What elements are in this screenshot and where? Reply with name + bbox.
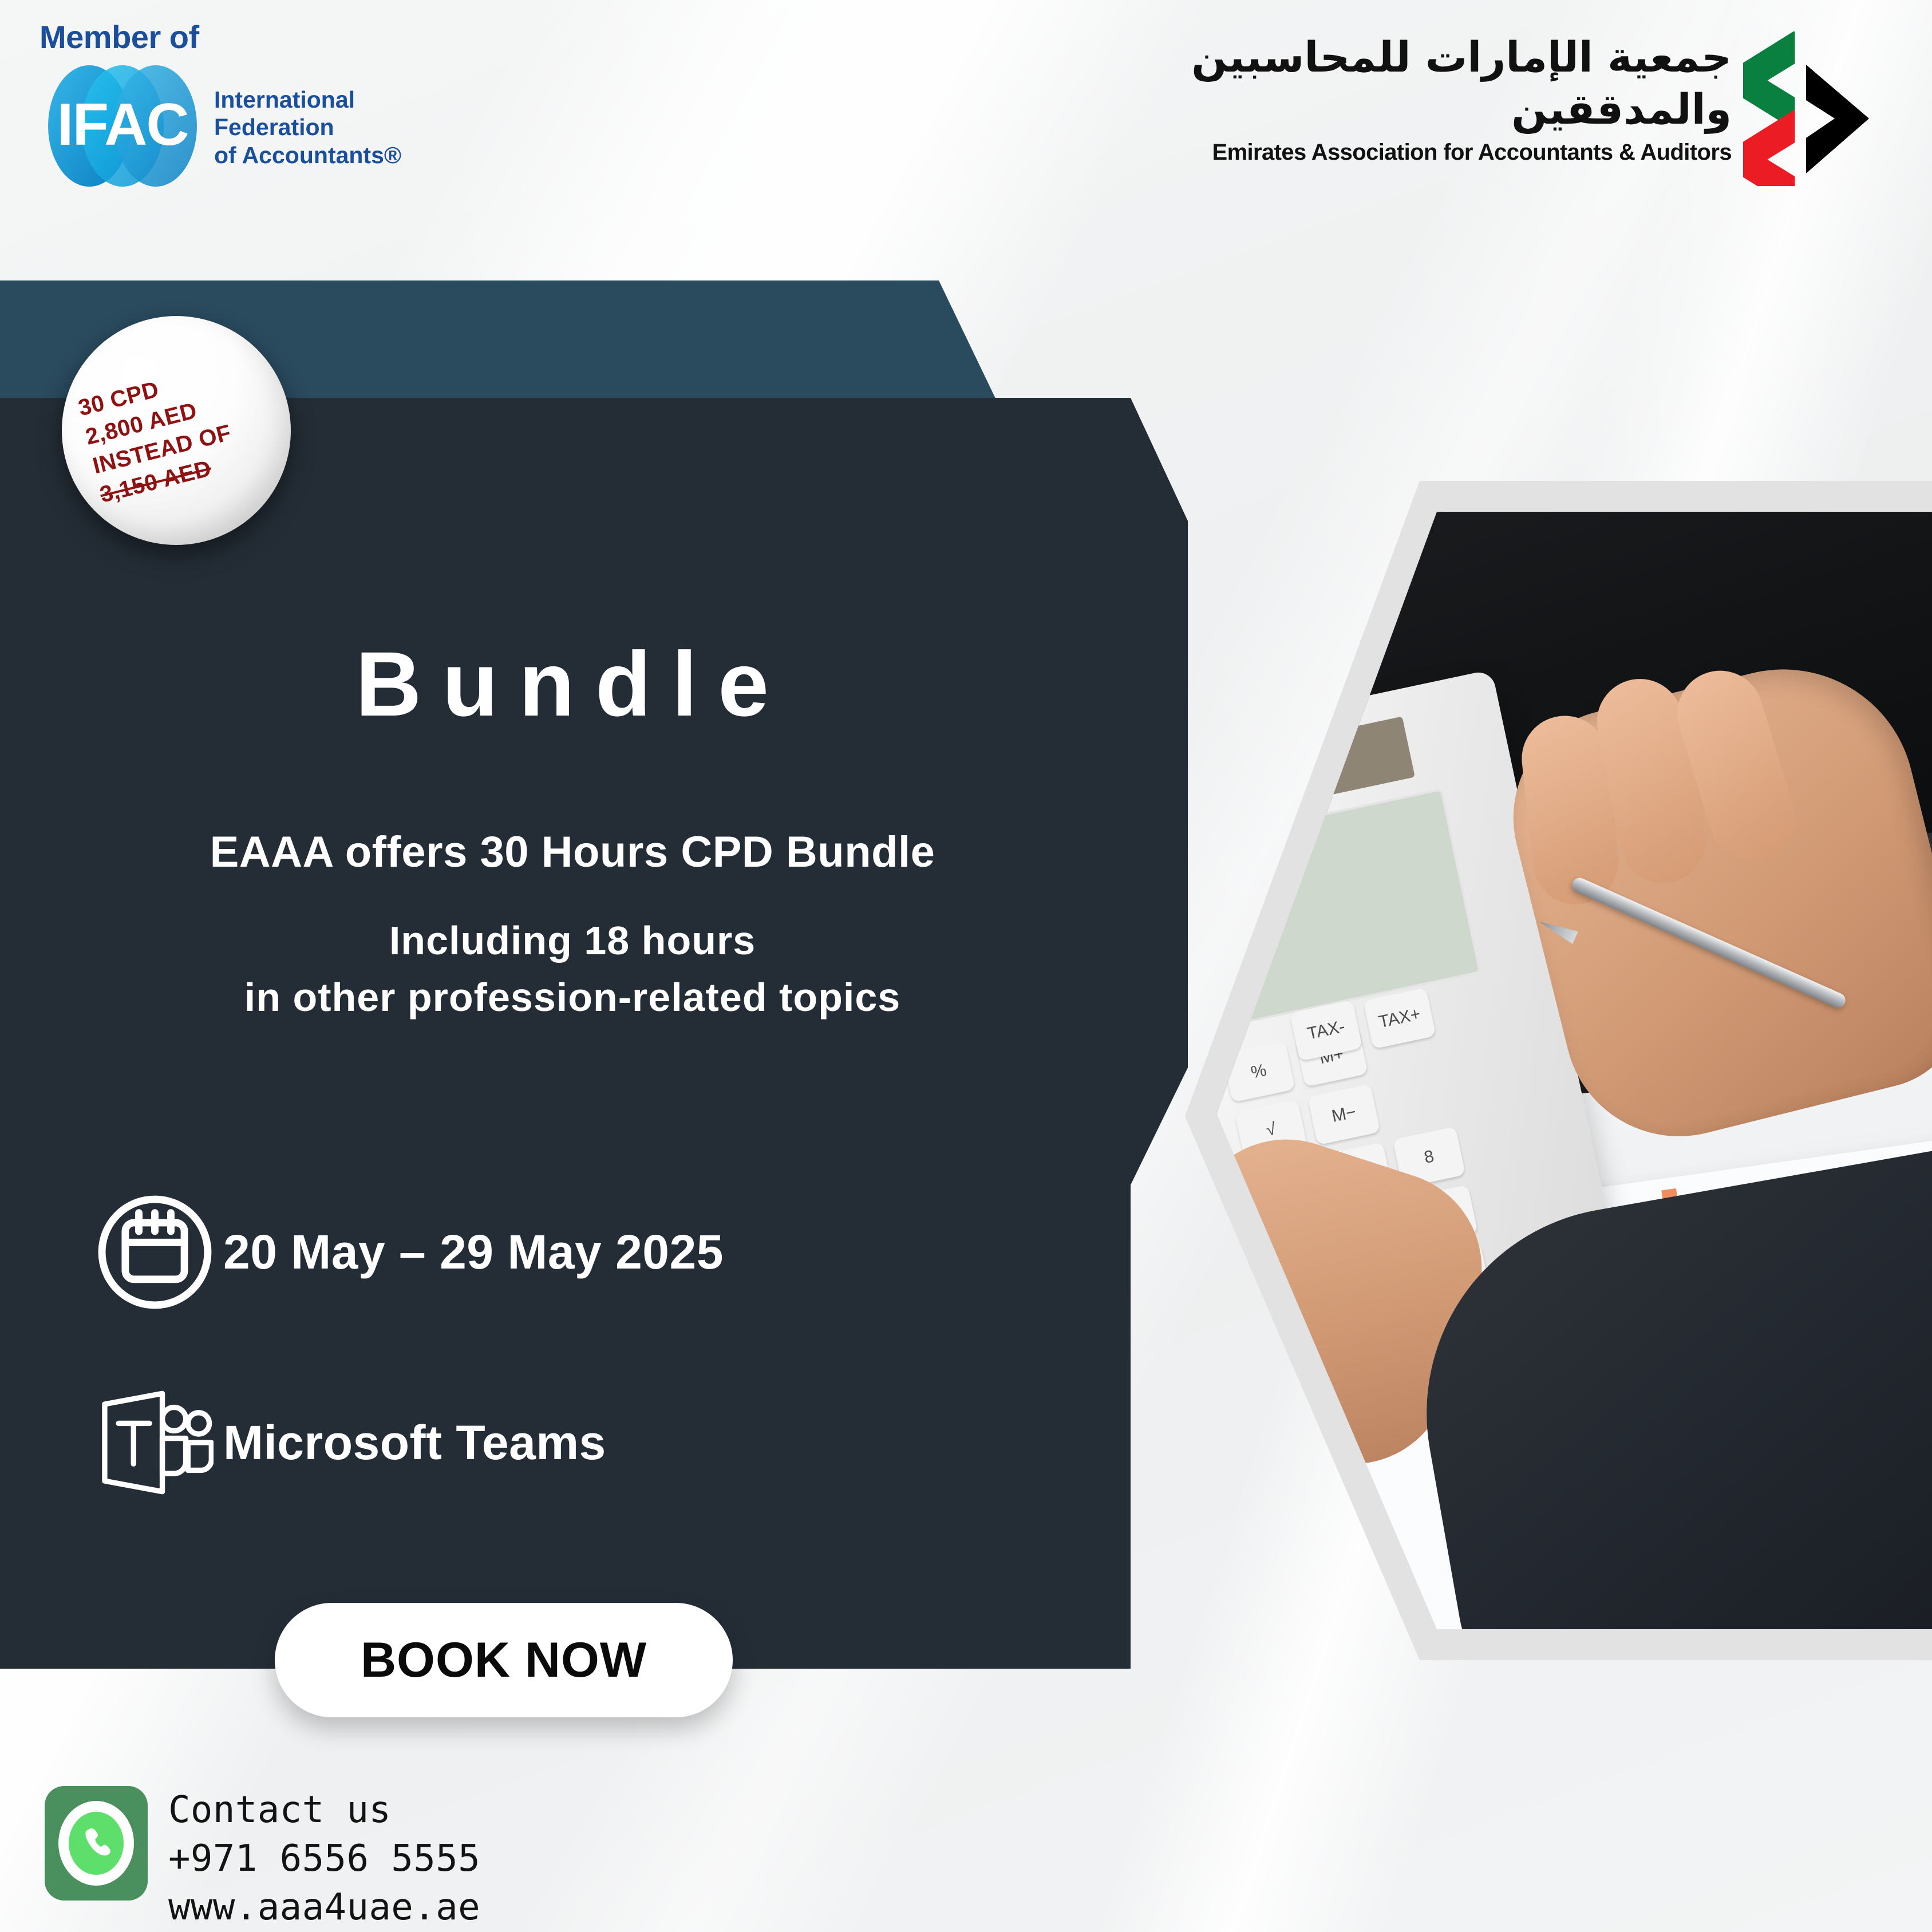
ifac-fullname-line2: Federation xyxy=(214,113,401,141)
ifac-fullname: International Federation of Accountants® xyxy=(214,86,401,169)
contact-phone[interactable]: +971 6556 5555 xyxy=(168,1835,480,1883)
offer-headline: EAAA offers 30 Hours CPD Bundle xyxy=(0,827,1145,877)
photo-scene: % M+ TAX+ TAX- √ M− MRC 7 8 4 5 0 . xyxy=(1216,512,1932,1629)
ifac-fullname-line3: of Accountants® xyxy=(214,141,401,169)
whatsapp-icon-ring xyxy=(58,1801,134,1886)
eaaa-wordmark: جمعية الإمارات للمحاسبين والمدققين Emira… xyxy=(1159,31,1732,165)
calendar-icon xyxy=(86,1191,223,1314)
eaaa-name-english: Emirates Association for Accountants & A… xyxy=(1159,140,1732,165)
book-now-button[interactable]: BOOK NOW xyxy=(275,1603,733,1717)
platform-label: Microsoft Teams xyxy=(223,1415,606,1471)
ifac-member-logo: Member of IFAC International Federat xyxy=(37,17,414,189)
svg-text:IFAC: IFAC xyxy=(57,92,188,158)
offer-detail-line1: Including 18 hours xyxy=(389,918,756,963)
promo-poster: Member of IFAC International Federat xyxy=(0,0,1932,1932)
eaaa-association-logo: جمعية الإمارات للمحاسبين والمدققين Emira… xyxy=(1153,31,1909,180)
date-row: 20 May – 29 May 2025 xyxy=(86,1191,724,1314)
contact-us-label: Contact us xyxy=(168,1786,480,1835)
eaaa-chevron-mark-icon xyxy=(1743,31,1909,186)
offer-detail-line2: in other profession-related topics xyxy=(244,975,900,1020)
photo-hexagon-frame: % M+ TAX+ TAX- √ M− MRC 7 8 4 5 0 . xyxy=(1185,481,1932,1660)
calculator-solar-panel xyxy=(1251,717,1415,809)
microsoft-teams-icon xyxy=(86,1385,223,1500)
photo-hexagon-image: % M+ TAX+ TAX- √ M− MRC 7 8 4 5 0 . xyxy=(1216,512,1932,1629)
whatsapp-icon[interactable] xyxy=(45,1786,148,1901)
platform-row: Microsoft Teams xyxy=(86,1385,606,1500)
main-content: Bundle EAAA offers 30 Hours CPD Bundle I… xyxy=(0,398,1145,1026)
whatsapp-icon-core xyxy=(69,1812,124,1875)
contact-block: Contact us +971 6556 5555 www.aaa4uae.ae xyxy=(45,1786,480,1932)
page-title: Bundle xyxy=(0,638,1145,730)
date-label: 20 May – 29 May 2025 xyxy=(223,1224,724,1280)
ifac-fullname-line1: International xyxy=(214,86,401,113)
contact-details: Contact us +971 6556 5555 www.aaa4uae.ae xyxy=(168,1786,480,1932)
offer-detail: Including 18 hours in other profession-r… xyxy=(0,912,1145,1026)
ifac-member-of-label: Member of xyxy=(39,18,199,56)
calculator-display xyxy=(1216,788,1481,1029)
eaaa-name-arabic: جمعية الإمارات للمحاسبين والمدققين xyxy=(1159,31,1732,136)
ifac-mark-icon: IFAC xyxy=(37,63,208,189)
book-now-label: BOOK NOW xyxy=(361,1632,647,1689)
contact-website[interactable]: www.aaa4uae.ae xyxy=(168,1883,480,1932)
